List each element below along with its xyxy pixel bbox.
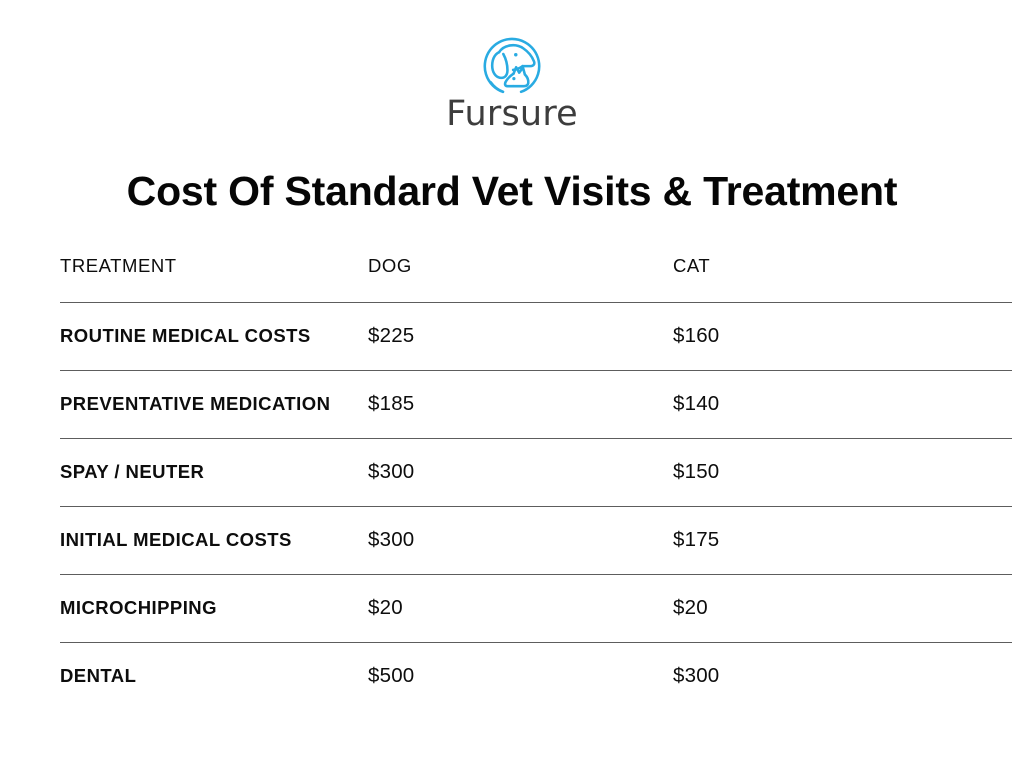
cell-cat-price: $140 (673, 370, 1012, 438)
cell-dog-price: $225 (368, 302, 673, 370)
vet-cost-infographic-page: { "brand": { "logo_icon": "dog-and-cat-c… (0, 0, 1024, 768)
table-row: SPAY / NEUTER $300 $150 (60, 438, 1012, 506)
table-header: TREATMENT DOG CAT (60, 254, 1012, 302)
dog-and-cat-circle-logo-icon (473, 34, 551, 96)
cell-cat-price: $20 (673, 574, 1012, 642)
column-header-treatment: TREATMENT (60, 254, 368, 302)
cell-dog-price: $20 (368, 574, 673, 642)
table-header-row: TREATMENT DOG CAT (60, 254, 1012, 302)
table-row: INITIAL MEDICAL COSTS $300 $175 (60, 506, 1012, 574)
vet-cost-table: TREATMENT DOG CAT ROUTINE MEDICAL COSTS … (60, 254, 1012, 710)
cell-dog-price: $185 (368, 370, 673, 438)
brand-header: Fursure (0, 0, 1024, 134)
cell-dog-price: $300 (368, 506, 673, 574)
table-body: ROUTINE MEDICAL COSTS $225 $160 PREVENTA… (60, 302, 1012, 710)
cell-treatment: SPAY / NEUTER (60, 438, 368, 506)
cell-cat-price: $300 (673, 642, 1012, 710)
cell-dog-price: $300 (368, 438, 673, 506)
cell-dog-price: $500 (368, 642, 673, 710)
cell-treatment: PREVENTATIVE MEDICATION (60, 370, 368, 438)
cell-cat-price: $150 (673, 438, 1012, 506)
cell-treatment: ROUTINE MEDICAL COSTS (60, 302, 368, 370)
column-header-dog: DOG (368, 254, 673, 302)
cell-treatment: DENTAL (60, 642, 368, 710)
table-row: MICROCHIPPING $20 $20 (60, 574, 1012, 642)
brand-wordmark: Fursure (446, 94, 578, 134)
table-row: DENTAL $500 $300 (60, 642, 1012, 710)
cell-treatment: INITIAL MEDICAL COSTS (60, 506, 368, 574)
table-row: ROUTINE MEDICAL COSTS $225 $160 (60, 302, 1012, 370)
column-header-cat: CAT (673, 254, 1012, 302)
table-row: PREVENTATIVE MEDICATION $185 $140 (60, 370, 1012, 438)
cell-cat-price: $175 (673, 506, 1012, 574)
cell-treatment: MICROCHIPPING (60, 574, 368, 642)
cell-cat-price: $160 (673, 302, 1012, 370)
page-title: Cost Of Standard Vet Visits & Treatment (0, 168, 1024, 215)
